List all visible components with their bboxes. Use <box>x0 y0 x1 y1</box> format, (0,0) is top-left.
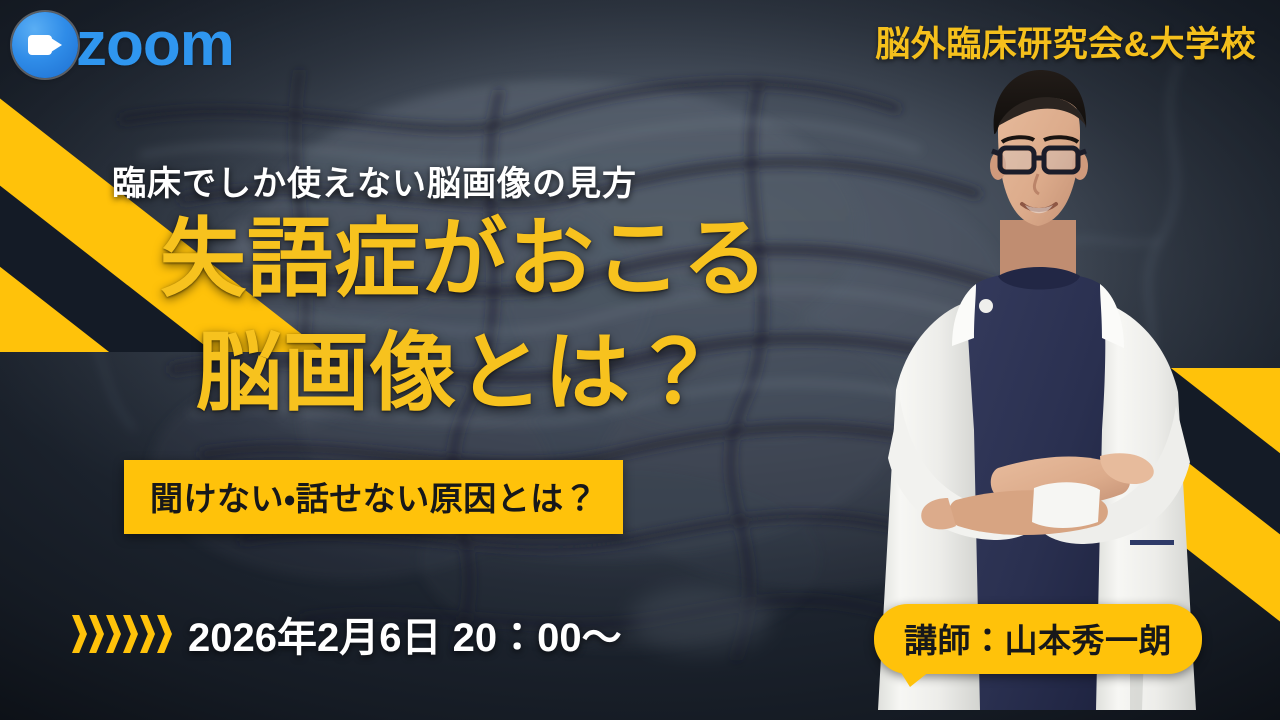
schedule-row: 2026年2月6日 20：00〜 <box>72 605 622 663</box>
schedule-date-time: 2026年2月6日 20：00〜 <box>188 605 622 663</box>
headline-kicker: 臨床でしか使えない脳画像の見方 <box>112 156 637 205</box>
organization-name: 脳外臨床研究会&大学校 <box>875 16 1256 67</box>
speaker-badge-label: 講師：山本秀一朗 <box>904 622 1172 659</box>
chevron-right-icon <box>72 615 87 653</box>
chevron-right-icon <box>157 615 172 653</box>
chevron-right-icon <box>123 615 138 653</box>
subtitle-ribbon: 聞けない・話せない原因とは？ <box>124 460 623 534</box>
zoom-logo: zoom <box>12 12 234 78</box>
speaker-badge: 講師：山本秀一朗 <box>874 604 1202 674</box>
chevron-right-icon <box>140 615 155 653</box>
chevron-group <box>72 615 174 653</box>
video-camera-icon <box>12 12 78 78</box>
subtitle-ribbon-label: 聞けない・話せない原因とは？ <box>150 480 597 517</box>
chevron-right-icon <box>106 615 121 653</box>
chevron-right-icon <box>89 615 104 653</box>
headline-line-1: 失語症がおこる <box>160 216 769 302</box>
headline-line-2: 脳画像とは？ <box>196 330 718 416</box>
zoom-wordmark: zoom <box>76 14 234 76</box>
banner-canvas: zoom 脳外臨床研究会&大学校 臨床でしか使えない脳画像の見方 失語症がおこる… <box>0 0 1280 720</box>
